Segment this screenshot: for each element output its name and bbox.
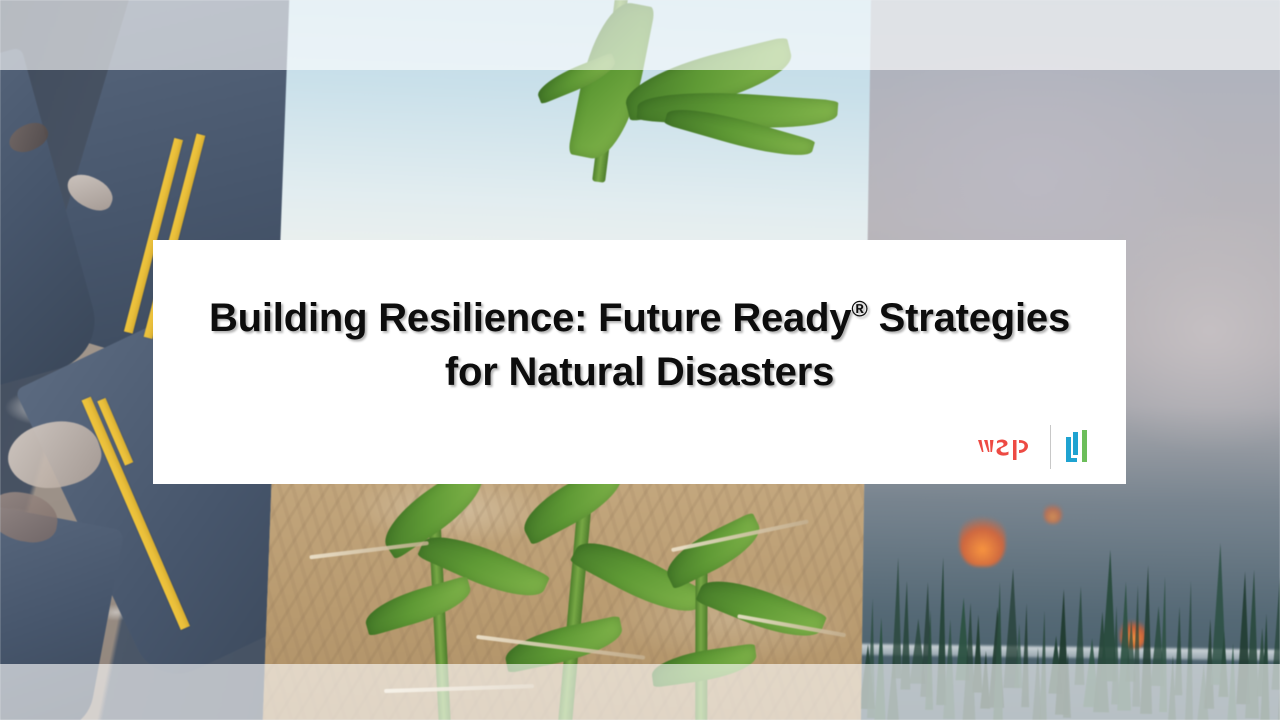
conifer-tree <box>943 619 956 719</box>
flame <box>959 510 1006 567</box>
wsp-secondary-mark-icon <box>1062 428 1092 466</box>
registered-trademark-symbol: ® <box>851 297 867 322</box>
page-title-part-1: Building Resilience: Future Ready <box>209 296 851 340</box>
conifer-tree <box>925 610 934 710</box>
conifer-tree <box>1174 606 1183 695</box>
conifer-tree <box>1021 603 1030 707</box>
conifer-tree <box>874 617 888 720</box>
conifer-tree <box>1038 611 1048 720</box>
page-title: Building Resilience: Future Ready® Strat… <box>195 292 1084 399</box>
wsp-logo <box>977 424 1092 470</box>
wsp-wordmark-icon <box>977 432 1039 462</box>
conifer-tree <box>1260 614 1272 720</box>
flame <box>1044 501 1062 523</box>
title-card: Building Resilience: Future Ready® Strat… <box>153 240 1126 484</box>
title-slide: Building Resilience: Future Ready® Strat… <box>0 0 1280 720</box>
logo-divider <box>1050 425 1051 469</box>
conifer-tree <box>1063 652 1072 717</box>
